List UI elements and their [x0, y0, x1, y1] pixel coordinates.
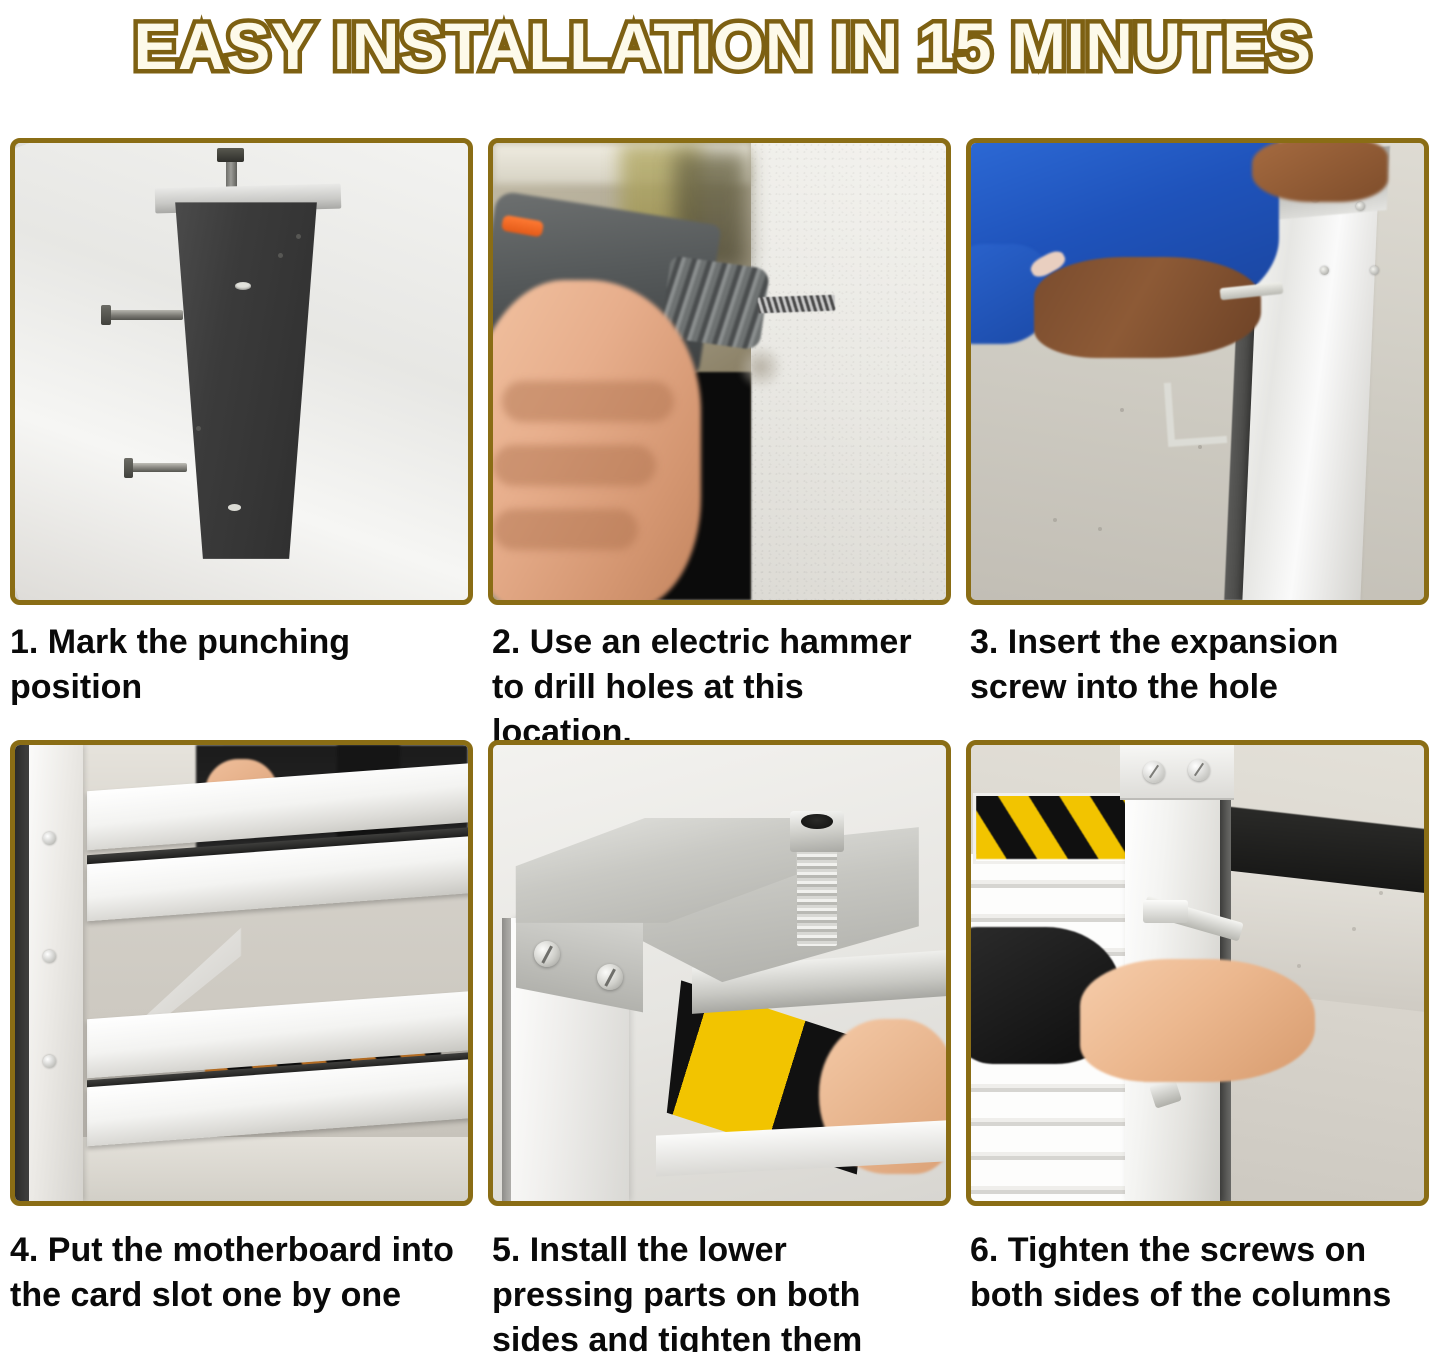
- step-image-panel-1: [10, 138, 473, 605]
- step-caption-2: 2. Use an electric hammer to drill holes…: [492, 620, 942, 755]
- step-image-panel-4: [10, 740, 473, 1206]
- photo-mark-punching-position: [15, 143, 468, 600]
- step-image-panel-5: [488, 740, 951, 1206]
- step-image-panel-3: [966, 138, 1429, 605]
- step-image-panel-6: [966, 740, 1429, 1206]
- photo-install-lower-pressing-parts: [493, 745, 946, 1201]
- photo-insert-boards-into-card-slot: [15, 745, 468, 1201]
- step-caption-4: 4. Put the motherboard into the card slo…: [10, 1228, 460, 1318]
- photo-drill-holes-in-wall: [493, 143, 946, 600]
- steps-grid: 1. Mark the punching position: [0, 0, 1445, 1352]
- step-image-panel-2: [488, 138, 951, 605]
- photo-tighten-column-screws: [971, 745, 1424, 1201]
- step-caption-6: 6. Tighten the screws on both sides of t…: [970, 1228, 1420, 1318]
- step-caption-1: 1. Mark the punching position: [10, 620, 480, 710]
- step-caption-3: 3. Insert the expansion screw into the h…: [970, 620, 1410, 710]
- step-caption-5: 5. Install the lower pressing parts on b…: [492, 1228, 932, 1352]
- photo-insert-expansion-screw: [971, 143, 1424, 600]
- installation-guide-infographic: EASY INSTALLATION IN 15 MINUTES: [0, 0, 1445, 1352]
